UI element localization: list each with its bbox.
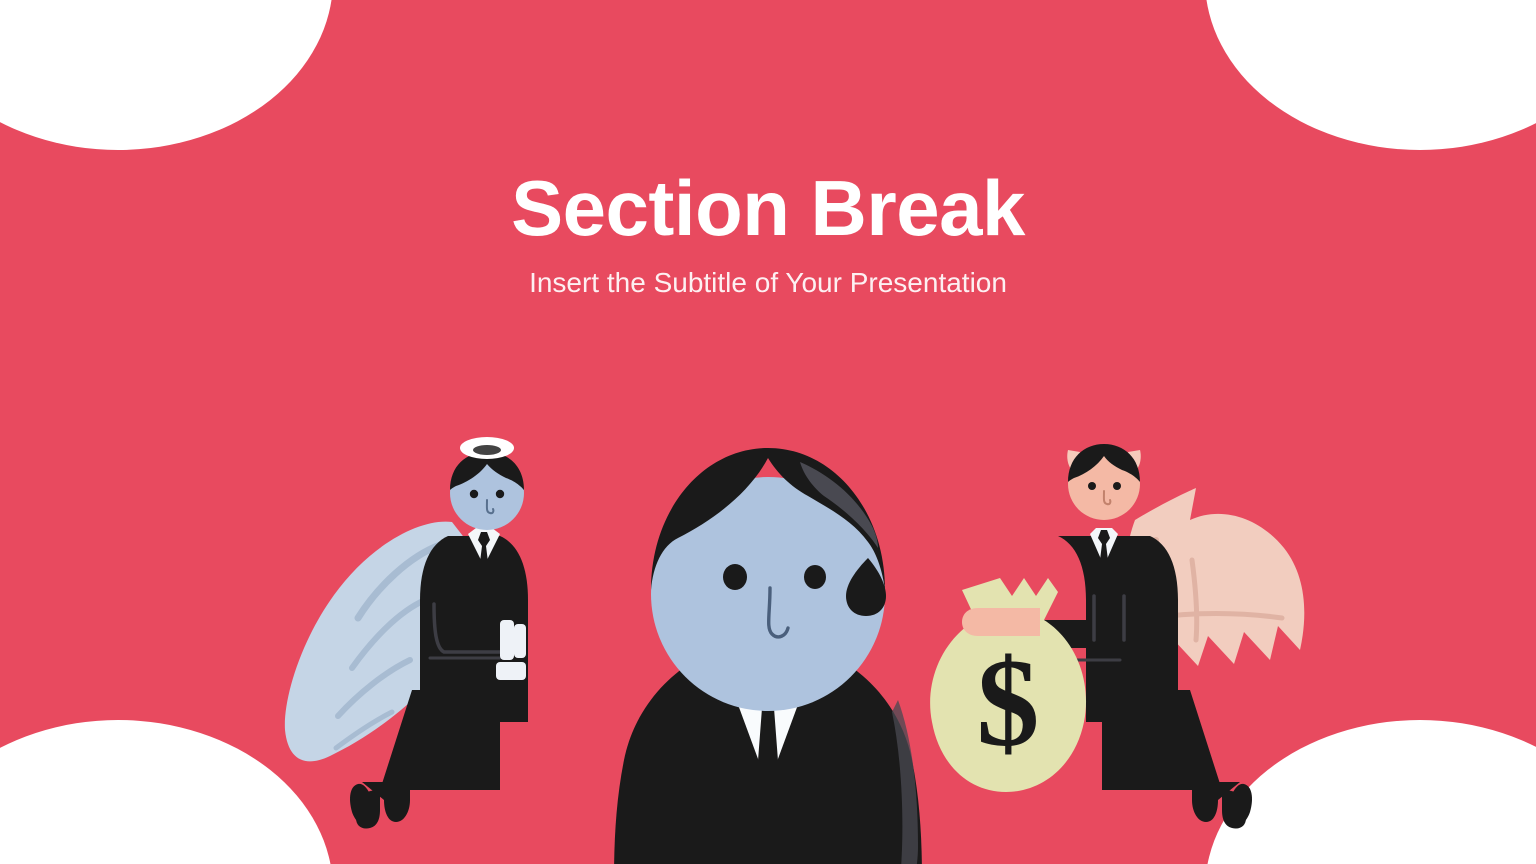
angel-figure: [285, 437, 528, 829]
presentation-slide: $ Sectio: [0, 0, 1536, 864]
angel-cuff: [500, 620, 514, 660]
illustration-group: $: [0, 0, 1536, 864]
money-bag-icon: $: [930, 578, 1086, 792]
money-bag-tie: [962, 608, 1040, 636]
angel-eye-left: [470, 490, 478, 498]
center-eye-left: [723, 564, 747, 590]
devil-eye-right: [1113, 482, 1121, 490]
center-eye-right: [804, 565, 826, 589]
center-figure: [614, 448, 922, 864]
money-bag-dollar-symbol: $: [977, 634, 1040, 773]
devil-eye-left: [1088, 482, 1096, 490]
angel-eye-right: [496, 490, 504, 498]
halo-icon: [460, 437, 514, 459]
